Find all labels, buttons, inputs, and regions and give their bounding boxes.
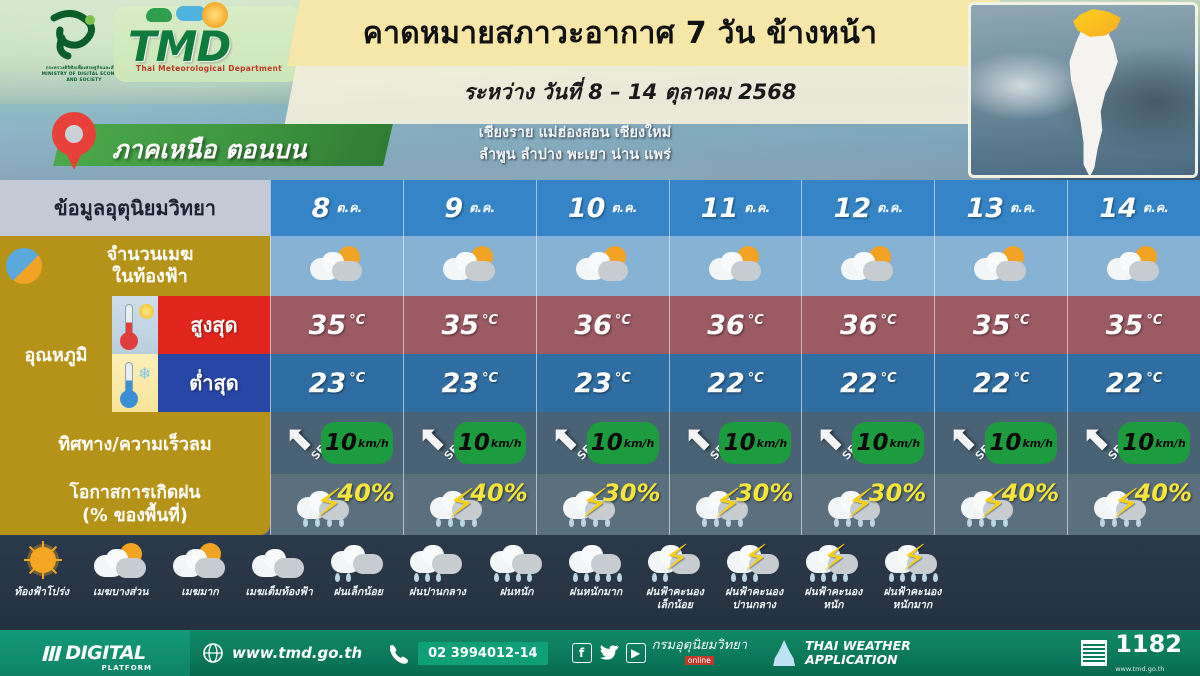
wind-cell-11: ⬆SE10km/h	[669, 412, 802, 474]
province-line-1: เชียงราย แม่ฮ่องสอน เชียงใหม่	[400, 122, 750, 144]
min-temp-cell-12: 22°C	[801, 354, 934, 412]
degree-unit: °C	[615, 313, 631, 328]
legend-item-5: ฝนปานกลาง	[398, 537, 477, 629]
wind-row: ทิศทาง/ความเร็วลม ⬆SE10km/h⬆SE10km/h⬆SE1…	[0, 412, 1200, 474]
date-column-header-9: 9ต.ค.	[403, 180, 536, 236]
hotline-number: 1182	[1115, 630, 1182, 658]
min-temp-cell-14: 22°C	[1067, 354, 1200, 412]
header-banner: กระทรวงดิจิทัลเพื่อเศรษฐกิจและสังคม MINI…	[0, 0, 1200, 180]
date-month-label: ต.ค.	[1010, 198, 1036, 218]
legend-item-6: ฝนหนัก	[477, 537, 556, 629]
legend-item-1: เมฆบางส่วน	[81, 537, 160, 629]
qr-code-icon[interactable]	[1081, 640, 1107, 666]
legend-item-label: ฝนฟ้าคะนอง หนัก	[804, 586, 862, 612]
rain-probability-value: 30%	[603, 479, 660, 507]
date-column-header-8: 8ต.ค.	[270, 180, 403, 236]
wind-speed-badge: 10km/h	[1118, 422, 1190, 464]
hotline-url: www.tmd.go.th	[1115, 665, 1164, 673]
legend-item-10: ⚡ฝนฟ้าคะนอง หนัก	[794, 537, 873, 629]
rain-row: โอกาสการเกิดฝน (% ของพื้นที่) ⚡40%⚡40%⚡3…	[0, 474, 1200, 535]
wind-speed-badge: 10km/h	[587, 422, 659, 464]
degree-unit: °C	[881, 371, 897, 386]
date-day-number: 11	[701, 193, 739, 224]
minmax-bands: สูงสุด ต่ำสุด	[158, 296, 270, 412]
legend-item-label: ฝนเล็กน้อย	[334, 586, 383, 599]
hotline-number-block: 1182 www.tmd.go.th	[1115, 632, 1182, 675]
rain-probability-value: 40%	[1135, 479, 1192, 507]
date-month-label: ต.ค.	[877, 198, 903, 218]
rain-cell-11: ⚡30%	[669, 474, 802, 535]
legend-item-label: เมฆมาก	[181, 586, 218, 599]
legend-item-label: ฝนฟ้าคะนอง ปานกลาง	[725, 586, 783, 612]
max-temp-value: 36°C	[707, 310, 764, 341]
app-name-line1: THAI WEATHER	[805, 638, 911, 653]
rain-cell-14: ⚡40%	[1067, 474, 1200, 535]
light-thunderstorm-icon: ⚡	[644, 541, 706, 585]
tmd-logo-subtitle: Thai Meteorological Department	[124, 64, 294, 73]
degree-unit: °C	[349, 371, 365, 386]
date-column-header-12: 12ต.ค.	[801, 180, 934, 236]
date-column-header-11: 11ต.ค.	[669, 180, 802, 236]
max-temp-value: 35°C	[973, 310, 1030, 341]
legend-item-4: ฝนเล็กน้อย	[319, 537, 398, 629]
wind-speed-unit: km/h	[1022, 437, 1053, 450]
rain-probability-value: 40%	[470, 479, 527, 507]
legend-item-label: เมฆเต็มท้องฟ้า	[245, 586, 312, 599]
rain-probability-value: 40%	[1002, 479, 1059, 507]
partly-cloudy-icon	[439, 246, 501, 286]
social-links[interactable]: f ▶ กรมอุตุนิยมวิทยา online	[560, 639, 760, 668]
legend-item-8: ⚡ฝนฟ้าคะนอง เล็กน้อย	[635, 537, 714, 629]
min-temp-value: 23°C	[309, 368, 366, 399]
wind-speed-value: 10	[458, 430, 490, 456]
date-day-number: 8	[312, 193, 331, 224]
partly-cloudy-icon	[705, 246, 767, 286]
website-url: www.tmd.go.th	[232, 644, 362, 662]
tmd-logo-tree-icon	[146, 8, 172, 22]
min-temp-value: 23°C	[574, 368, 631, 399]
date-month-label: ต.ค.	[1143, 198, 1169, 218]
rain-row-label: โอกาสการเกิดฝน (% ของพื้นที่)	[0, 474, 270, 535]
sky-row-label: จำนวนเมฆ ในท้องฟ้า	[0, 236, 270, 296]
wind-cell-13: ⬆SE10km/h	[934, 412, 1067, 474]
wind-speed-value: 10	[1122, 430, 1154, 456]
min-temp-cell-13: 22°C	[934, 354, 1067, 412]
partly-cloudy-icon	[837, 246, 899, 286]
moderate-thunderstorm-icon: ⚡	[723, 541, 785, 585]
date-day-number: 12	[834, 193, 872, 224]
wind-cell-8: ⬆SE10km/h	[270, 412, 403, 474]
rain-probability-value: 30%	[736, 479, 793, 507]
sky-cell-13	[934, 236, 1067, 296]
ministry-logo: กระทรวงดิจิทัลเพื่อเศรษฐกิจและสังคม MINI…	[24, 8, 120, 82]
table-header-label: ข้อมูลอุตุนิยมวิทยา	[0, 180, 270, 236]
region-map-panel	[968, 2, 1198, 178]
twitter-icon[interactable]	[598, 643, 620, 663]
min-temp-value: 22°C	[707, 368, 764, 399]
phone-icon	[386, 642, 410, 664]
date-month-label: ต.ค.	[469, 198, 495, 218]
date-range: ระหว่าง วันที่ 8 – 14 ตุลาคม 2568	[330, 76, 930, 109]
max-temp-cell-10: 36°C	[536, 296, 669, 354]
rain-probability-value: 40%	[337, 479, 394, 507]
wind-speed-unit: km/h	[1155, 437, 1186, 450]
legend-item-3: เมฆเต็มท้องฟ้า	[240, 537, 319, 629]
date-column-header-14: 14ต.ค.	[1067, 180, 1200, 236]
very-heavy-rain-icon	[565, 541, 627, 585]
partly-cloudy-icon	[90, 541, 152, 585]
min-temp-cell-11: 22°C	[669, 354, 802, 412]
min-label: ต่ำสุด	[158, 354, 270, 412]
min-temp-value: 22°C	[973, 368, 1030, 399]
heavy-rain-icon	[486, 541, 548, 585]
sky-cell-10	[536, 236, 669, 296]
max-temp-value: 35°C	[1106, 310, 1163, 341]
wind-speed-value: 10	[325, 430, 357, 456]
legend-item-label: ท้องฟ้าโปร่ง	[14, 586, 69, 599]
location-pin-icon	[52, 112, 96, 170]
max-label: สูงสุด	[158, 296, 270, 354]
thai-weather-application[interactable]: THAI WEATHER APPLICATION	[759, 639, 923, 668]
wind-speed-unit: km/h	[889, 437, 920, 450]
youtube-icon[interactable]: ▶	[626, 643, 646, 663]
date-month-label: ต.ค.	[336, 198, 362, 218]
wind-cell-10: ⬆SE10km/h	[536, 412, 669, 474]
partly-cloudy-icon	[970, 246, 1032, 286]
table-header-row: ข้อมูลอุตุนิยมวิทยา 8ต.ค.9ต.ค.10ต.ค.11ต.…	[0, 180, 1200, 236]
date-month-label: ต.ค.	[744, 198, 770, 218]
province-line-2: ลำพูน ลำปาง พะเยา น่าน แพร่	[400, 144, 750, 166]
degree-unit: °C	[748, 313, 764, 328]
hotline-block: 1182 www.tmd.go.th	[1069, 632, 1200, 675]
temperature-label: อุณหภูมิ	[0, 340, 112, 369]
digital-platform-logo: DIGITAL PLATFORM	[0, 630, 190, 676]
forecast-table: ข้อมูลอุตุนิยมวิทยา 8ต.ค.9ต.ค.10ต.ค.11ต.…	[0, 180, 1200, 535]
legend-item-0: ท้องฟ้าโปร่ง	[2, 537, 81, 629]
hot-thermometer-icon	[112, 296, 158, 354]
app-name-line2: APPLICATION	[805, 652, 898, 667]
facebook-icon[interactable]: f	[572, 643, 592, 663]
legend-item-label: ฝนฟ้าคะนอง หนักมาก	[884, 586, 942, 612]
page-title: คาดหมายสภาวะอากาศ 7 วัน ข้างหน้า	[310, 10, 930, 57]
wind-speed-badge: 10km/h	[985, 422, 1057, 464]
tmd-online-name: กรมอุตุนิยมวิทยา	[652, 638, 748, 653]
wind-cell-14: ⬆SE10km/h	[1067, 412, 1200, 474]
max-temp-cell-8: 35°C	[270, 296, 403, 354]
degree-unit: °C	[881, 313, 897, 328]
digital-platform-text: DIGITAL	[65, 642, 145, 664]
wind-speed-badge: 10km/h	[454, 422, 526, 464]
footer-bar: DIGITAL PLATFORM www.tmd.go.th 02 399401…	[0, 630, 1200, 676]
max-temp-cell-14: 35°C	[1067, 296, 1200, 354]
mostly-cloudy-icon	[169, 541, 231, 585]
legend-item-11: ⚡ฝนฟ้าคะนอง หนักมาก	[873, 537, 952, 629]
globe-icon	[202, 642, 224, 664]
date-day-number: 10	[568, 193, 606, 224]
wind-speed-value: 10	[856, 430, 888, 456]
wind-speed-badge: 10km/h	[321, 422, 393, 464]
date-column-header-13: 13ต.ค.	[934, 180, 1067, 236]
rain-cell-9: ⚡40%	[403, 474, 536, 535]
rain-cell-12: ⚡30%	[801, 474, 934, 535]
rain-cell-8: ⚡40%	[270, 474, 403, 535]
degree-unit: °C	[1146, 313, 1162, 328]
wind-speed-unit: km/h	[491, 437, 522, 450]
wind-row-label: ทิศทาง/ความเร็วลม	[0, 412, 270, 474]
legend-item-label: ฝนฟ้าคะนอง เล็กน้อย	[646, 586, 704, 612]
wind-speed-unit: km/h	[624, 437, 655, 450]
app-temple-icon	[771, 640, 797, 666]
sky-row-label-text: จำนวนเมฆ ในท้องฟ้า	[107, 244, 194, 289]
digital-bars-icon	[44, 646, 60, 661]
legend-item-label: เมฆบางส่วน	[93, 586, 148, 599]
sky-row: จำนวนเมฆ ในท้องฟ้า	[0, 236, 1200, 296]
degree-unit: °C	[1146, 371, 1162, 386]
legend-item-7: ฝนหนักมาก	[556, 537, 635, 629]
sky-cell-14	[1067, 236, 1200, 296]
region-title: ภาคเหนือ ตอนบน	[112, 130, 392, 170]
sky-cell-12	[801, 236, 934, 296]
wind-speed-badge: 10km/h	[852, 422, 924, 464]
max-temp-value: 35°C	[441, 310, 498, 341]
cold-thermometer-icon: ❄	[112, 354, 158, 412]
wind-cell-9: ⬆SE10km/h	[403, 412, 536, 474]
date-month-label: ต.ค.	[611, 198, 637, 218]
partly-cloudy-icon	[1103, 246, 1165, 286]
wind-speed-unit: km/h	[757, 437, 788, 450]
legend-item-label: ฝนหนัก	[500, 586, 534, 599]
wind-speed-badge: 10km/h	[719, 422, 791, 464]
max-temp-cell-13: 35°C	[934, 296, 1067, 354]
weather-condition-legend: ท้องฟ้าโปร่งเมฆบางส่วนเมฆมากเมฆเต็มท้องฟ…	[2, 537, 952, 629]
min-temp-value: 22°C	[840, 368, 897, 399]
degree-unit: °C	[1013, 371, 1029, 386]
rain-cell-10: ⚡30%	[536, 474, 669, 535]
moderate-rain-icon	[406, 541, 468, 585]
wind-speed-value: 10	[724, 430, 756, 456]
legend-item-2: เมฆมาก	[160, 537, 239, 629]
cloud-sun-icon	[6, 248, 42, 284]
sky-cell-8	[270, 236, 403, 296]
light-rain-icon	[327, 541, 389, 585]
wind-speed-unit: km/h	[358, 437, 389, 450]
max-temp-cell-11: 36°C	[669, 296, 802, 354]
degree-unit: °C	[748, 371, 764, 386]
legend-item-9: ⚡ฝนฟ้าคะนอง ปานกลาง	[715, 537, 794, 629]
min-temp-cell-10: 23°C	[536, 354, 669, 412]
phone-contact[interactable]: 02 3994012-14	[374, 642, 559, 665]
sky-cell-11	[669, 236, 802, 296]
date-day-number: 13	[966, 193, 1004, 224]
wind-speed-value: 10	[591, 430, 623, 456]
max-temp-value: 35°C	[309, 310, 366, 341]
max-temp-value: 36°C	[574, 310, 631, 341]
partly-cloudy-icon	[306, 246, 368, 286]
date-day-number: 14	[1099, 193, 1137, 224]
wind-speed-value: 10	[989, 430, 1021, 456]
weather-forecast-infographic: กระทรวงดิจิทัลเพื่อเศรษฐกิจและสังคม MINI…	[0, 0, 1200, 676]
app-name: THAI WEATHER APPLICATION	[805, 639, 911, 668]
phone-number: 02 3994012-14	[418, 642, 547, 665]
degree-unit: °C	[615, 371, 631, 386]
date-day-number: 9	[444, 193, 463, 224]
province-list: เชียงราย แม่ฮ่องสอน เชียงใหม่ ลำพูน ลำปา…	[400, 118, 750, 176]
degree-unit: °C	[482, 313, 498, 328]
legend-item-label: ฝนหนักมาก	[569, 586, 622, 599]
thermometer-icons: ❄	[112, 296, 158, 412]
wind-cell-12: ⬆SE10km/h	[801, 412, 934, 474]
rain-cell-13: ⚡40%	[934, 474, 1067, 535]
legend-item-label: ฝนปานกลาง	[409, 586, 466, 599]
heavy-thunderstorm-icon: ⚡	[802, 541, 864, 585]
min-temp-cell-9: 23°C	[403, 354, 536, 412]
max-temp-value: 36°C	[840, 310, 897, 341]
sunny-icon	[11, 541, 73, 585]
degree-unit: °C	[349, 313, 365, 328]
legend-bar: ท้องฟ้าโปร่งเมฆบางส่วนเมฆมากเมฆเต็มท้องฟ…	[0, 535, 1200, 630]
sky-cell-9	[403, 236, 536, 296]
min-temp-value: 22°C	[1106, 368, 1163, 399]
tmd-online-label: กรมอุตุนิยมวิทยา online	[652, 639, 748, 668]
min-temp-value: 23°C	[441, 368, 498, 399]
tmd-online-tag: online	[685, 656, 714, 665]
max-temp-cell-12: 36°C	[801, 296, 934, 354]
partly-cloudy-icon	[572, 246, 634, 286]
website-link[interactable]: www.tmd.go.th	[190, 642, 374, 664]
overcast-icon	[248, 541, 310, 585]
max-temp-cell-9: 35°C	[403, 296, 536, 354]
date-column-header-10: 10ต.ค.	[536, 180, 669, 236]
very-heavy-thunderstorm-icon: ⚡	[881, 541, 943, 585]
rain-probability-value: 30%	[869, 479, 926, 507]
temperature-label-block: อุณหภูมิ ❄ สูงสุด ต่ำสุด	[0, 296, 270, 412]
digital-platform-subtext: PLATFORM	[102, 664, 152, 672]
min-temp-cell-8: 23°C	[270, 354, 403, 412]
degree-unit: °C	[1013, 313, 1029, 328]
degree-unit: °C	[482, 371, 498, 386]
